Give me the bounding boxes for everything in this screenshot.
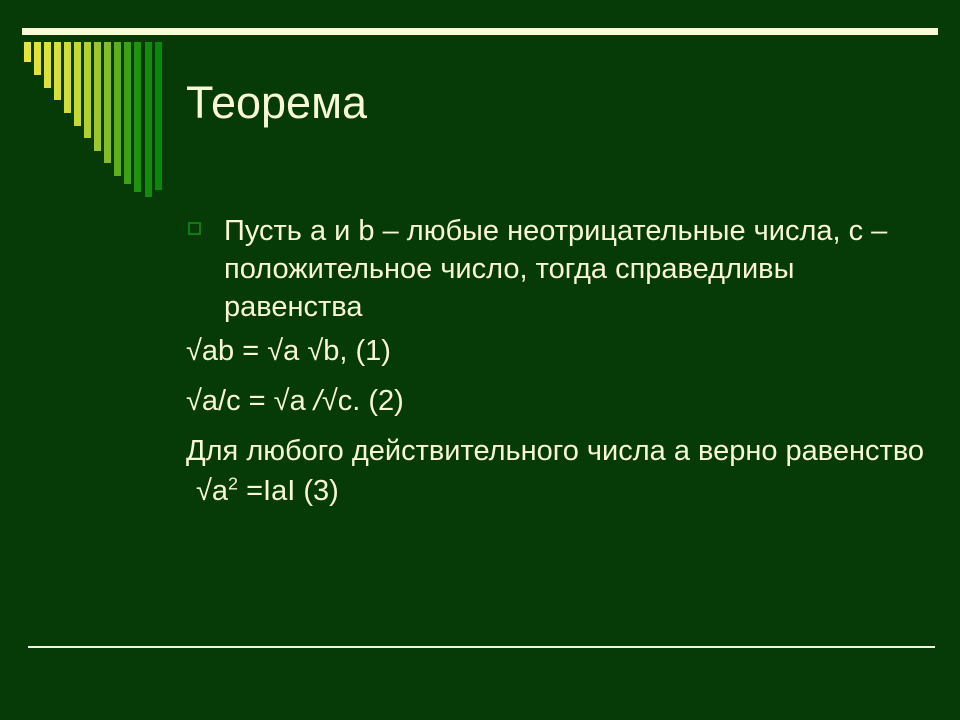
decoration-bar [54,42,61,100]
body-content: Пусть a и b – любые неотрицательные числ… [186,212,926,512]
decoration-bar [124,42,131,184]
formula-3-number: (3) [295,475,339,507]
formula-3-radical: √a [196,475,228,507]
decoration-bar [104,42,111,163]
decoration-bar [34,42,41,75]
decoration-bar [74,42,81,126]
formula-2-equals: = [241,385,274,417]
decoration-bar [24,42,31,62]
formula-2-number: (2) [360,385,404,417]
formula-2-rhs-c: √c. [322,385,360,417]
page-title: Теорема [186,76,886,130]
formula-2-rhs-a: √a [274,385,314,417]
paragraph-text: Для любого действительного числа a верно… [186,435,924,467]
descending-bars-decoration [24,42,169,197]
formula-3-exponent: 2 [228,473,238,493]
formula-1: √ab = √a √b, (1) [186,332,926,370]
decoration-bar [84,42,91,138]
paragraph-any-real-number: Для любого действительного числа a верно… [186,432,926,470]
top-accent-bar [22,28,938,35]
formula-1-text: √ab = √a √b, (1) [186,335,391,367]
decoration-bar [114,42,121,176]
decoration-bar [44,42,51,88]
bullet-paragraph-premise: Пусть a и b – любые неотрицательные числ… [186,212,926,326]
formula-2-slash: / [314,385,322,417]
formula-2: √a/c = √a /√c. (2) [186,382,926,420]
formula-3: √a2 =IaI (3) [186,472,926,510]
decoration-bar [134,42,141,192]
decoration-bar [155,42,162,190]
bottom-divider [28,646,935,648]
decoration-bar [94,42,101,151]
paragraph-text: Пусть a и b – любые неотрицательные числ… [224,215,887,323]
square-bullet-icon [188,222,201,235]
slide: Теорема Пусть a и b – любые неотрицатель… [0,0,960,720]
formula-3-equals: =IaI [238,475,295,507]
decoration-bar [145,42,152,197]
decoration-bar [64,42,71,113]
formula-2-lhs: √a/c [186,385,241,417]
